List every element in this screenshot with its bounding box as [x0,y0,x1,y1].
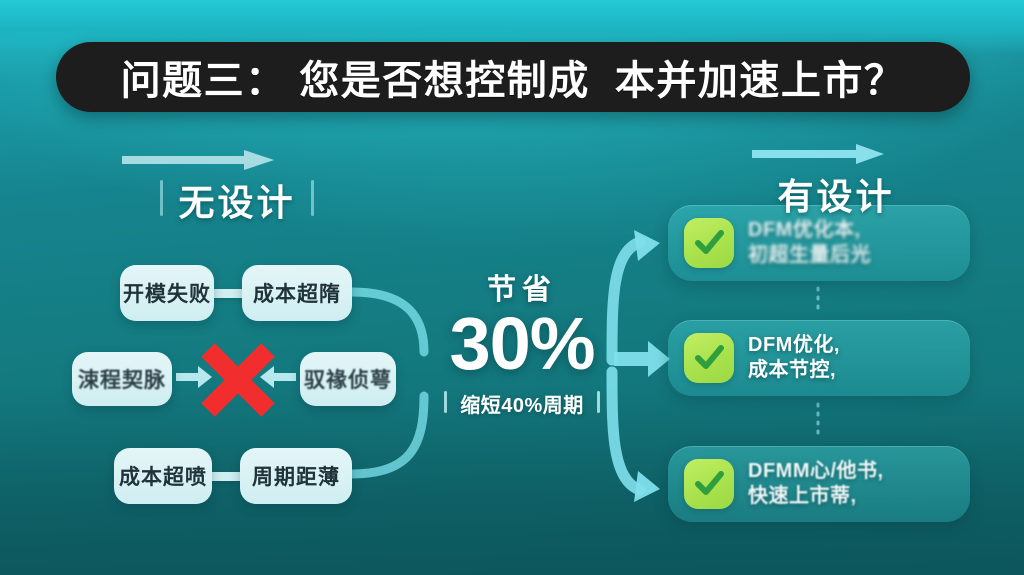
result-card-line2: 初超生量后光 [748,243,871,268]
result-card-line2: 成本节控, [748,358,840,383]
result-card-text: DFM优化本, 初超生量后光 [748,218,871,268]
left-bottom-curve [352,396,424,474]
problem-box-label: 涑程契脉 [78,364,166,394]
green-check-icon [684,218,734,268]
result-card-text: DFMM心/他书, 快速上市蒂, [748,459,884,509]
savings-label: 节省 [422,276,622,305]
green-check-icon [684,333,734,383]
right-section-heading: 有设计 [763,168,908,220]
result-card-text: DFM优化, 成本节控, [748,333,840,383]
problem-box-right-middle: 驭禒侦萼 [300,352,396,406]
cycle-reduction-label: 缩短40%周期 [444,389,600,418]
check-mark-icon [693,227,725,259]
result-card: DFMM心/他书, 快速上市蒂, [668,446,970,522]
connector-top [212,289,246,298]
problem-box-label: 开模失败 [123,278,211,308]
infographic-canvas: 问题三： 您是否想控制成 本并加速上市？ 无设计 有设计 开模失败 成本超隋 涑… [0,0,1024,575]
right-header-arrow-wrap [718,142,954,168]
branch-head-card3 [634,471,660,502]
result-card-line1: DFM优化本, [748,218,871,243]
problem-box-cost-overrun-bottom: 成本超喷 [114,448,212,504]
savings-percent: 30% [422,307,622,381]
left-top-curve [352,292,424,352]
check-mark-icon [693,468,725,500]
problem-box-label: 成本超隋 [253,278,341,308]
result-card-line1: DFM优化, [748,333,840,358]
left-section-header: 无设计 [118,148,356,226]
result-card-line2: 快速上市蒂, [748,484,884,509]
red-cross-icon [196,338,280,422]
green-check-icon [684,459,734,509]
connector-bottom [210,472,244,481]
arrow-center-to-results [614,341,670,377]
check-mark-icon [693,342,725,374]
title-bar: 问题三： 您是否想控制成 本并加速上市？ [56,42,970,112]
result-card: DFM优化, 成本节控, [668,320,970,396]
problem-box-label: 驭禒侦萼 [304,364,392,394]
result-card-line1: DFMM心/他书, [748,459,884,484]
long-right-arrow-icon [118,148,278,172]
page-title: 问题三： 您是否想控制成 本并加速上市？ [121,48,906,106]
problem-box-cost-overrun-top: 成本超隋 [242,265,352,321]
left-header-arrow-wrap [118,148,356,174]
savings-stat: 节省 30% 缩短40%周期 [422,276,622,418]
left-section-heading: 无设计 [164,174,309,226]
long-right-arrow-icon [748,142,888,166]
branch-head-card1 [634,230,660,261]
problem-box-label: 周期距薄 [252,461,340,491]
problem-box-label: 成本超喷 [119,461,207,491]
right-section-header: 有设计 [718,142,954,220]
problem-box-open-mold-failure: 开模失败 [120,265,214,321]
problem-box-cycle-delay: 周期距薄 [240,448,352,504]
problem-box-left-middle: 涑程契脉 [72,352,172,406]
